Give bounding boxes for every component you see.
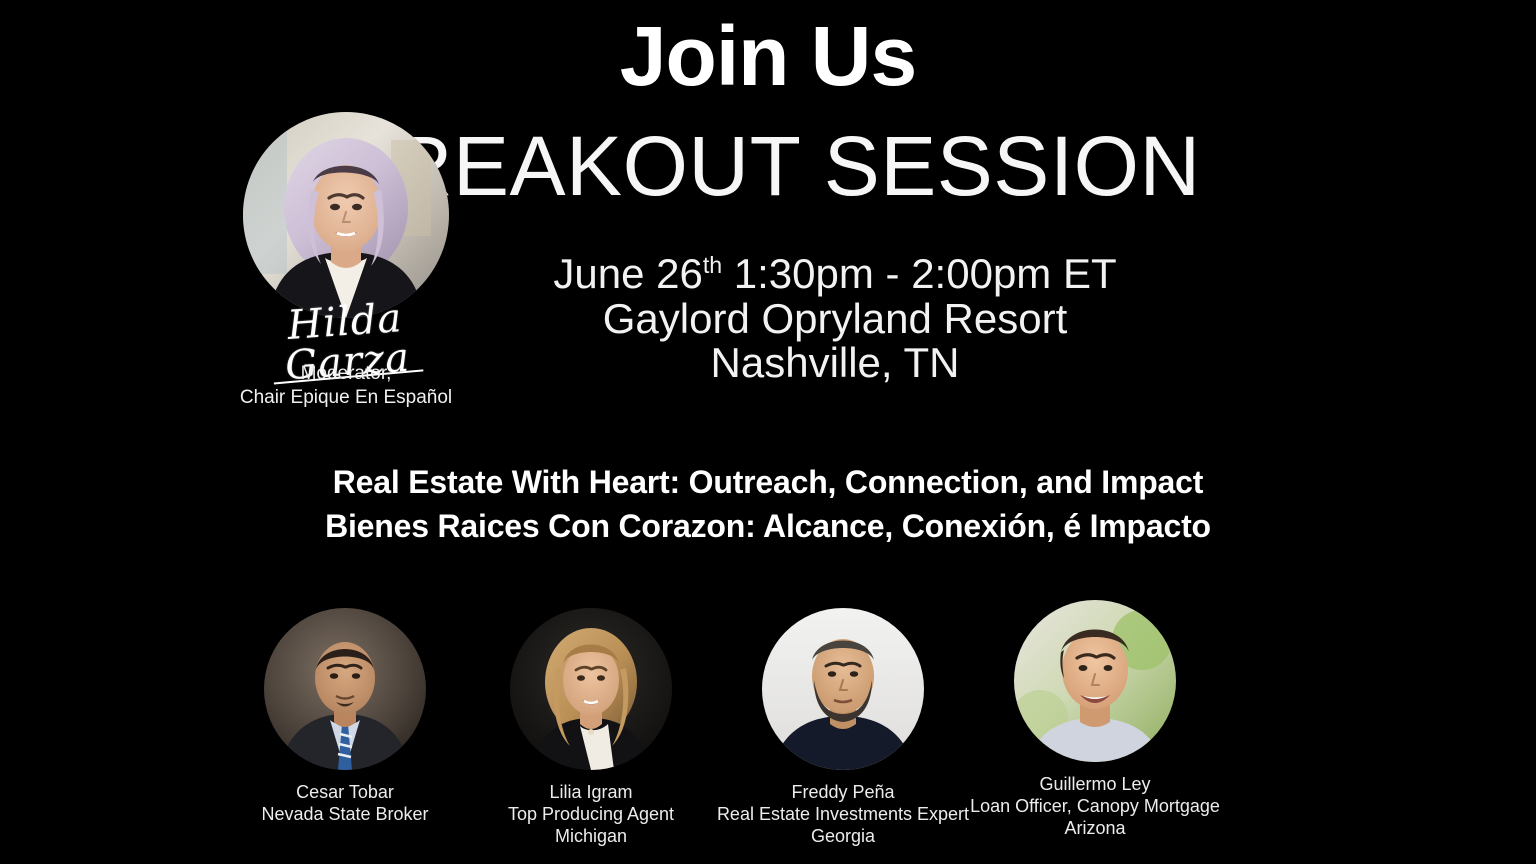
speaker-card: Guillermo Ley Loan Officer, Canopy Mortg… — [965, 600, 1225, 840]
event-city: Nashville, TN — [430, 341, 1240, 386]
speaker-caption: Lilia Igram Top Producing Agent Michigan — [461, 782, 721, 848]
speaker-title: Top Producing Agent — [461, 804, 721, 826]
moderator-block: Hilda Garza Moderator, Chair Epique En E… — [243, 112, 449, 318]
slide-canvas: Join Us BREAKOUT SESSION June 26th 1:30p… — [0, 0, 1536, 864]
speaker-card: Lilia Igram Top Producing Agent Michigan — [461, 608, 721, 848]
moderator-role-line-2: Chair Epique En Español — [203, 386, 489, 410]
speaker-caption: Freddy Peña Real Estate Investments Expe… — [713, 782, 973, 848]
speaker-title: Loan Officer, Canopy Mortgage — [965, 796, 1225, 818]
event-date-time: June 26th 1:30pm - 2:00pm ET — [430, 252, 1240, 297]
speaker-title: Real Estate Investments Expert — [713, 804, 973, 826]
speaker-name: Guillermo Ley — [965, 774, 1225, 796]
speaker-row: Cesar Tobar Nevada State Broker — [0, 608, 1536, 864]
headline-join-us: Join Us — [0, 14, 1536, 98]
moderator-role: Moderator, Chair Epique En Español — [203, 362, 489, 411]
event-details: June 26th 1:30pm - 2:00pm ET Gaylord Opr… — [430, 252, 1240, 386]
moderator-photo — [243, 112, 449, 318]
event-time: 1:30pm - 2:00pm ET — [734, 250, 1117, 297]
speaker-location: Arizona — [965, 818, 1225, 840]
session-title-spanish: Bienes Raices Con Corazon: Alcance, Cone… — [0, 504, 1536, 548]
event-venue: Gaylord Opryland Resort — [430, 297, 1240, 342]
speaker-title: Nevada State Broker — [215, 804, 475, 826]
event-date: June 26 — [553, 250, 702, 297]
speaker-photo — [510, 608, 672, 770]
session-title-block: Real Estate With Heart: Outreach, Connec… — [0, 460, 1536, 548]
session-title-english: Real Estate With Heart: Outreach, Connec… — [0, 460, 1536, 504]
speaker-name: Lilia Igram — [461, 782, 721, 804]
speaker-location: Michigan — [461, 826, 721, 848]
speaker-photo — [762, 608, 924, 770]
speaker-card: Freddy Peña Real Estate Investments Expe… — [713, 608, 973, 848]
speaker-name: Freddy Peña — [713, 782, 973, 804]
speaker-caption: Cesar Tobar Nevada State Broker — [215, 782, 475, 826]
speaker-photo — [1014, 600, 1176, 762]
moderator-role-line-1: Moderator, — [203, 362, 489, 386]
speaker-location: Georgia — [713, 826, 973, 848]
speaker-photo — [264, 608, 426, 770]
speaker-name: Cesar Tobar — [215, 782, 475, 804]
headline-breakout-session: BREAKOUT SESSION — [0, 124, 1536, 208]
event-date-ordinal: th — [703, 252, 722, 278]
speaker-card: Cesar Tobar Nevada State Broker — [215, 608, 475, 826]
speaker-caption: Guillermo Ley Loan Officer, Canopy Mortg… — [965, 774, 1225, 840]
